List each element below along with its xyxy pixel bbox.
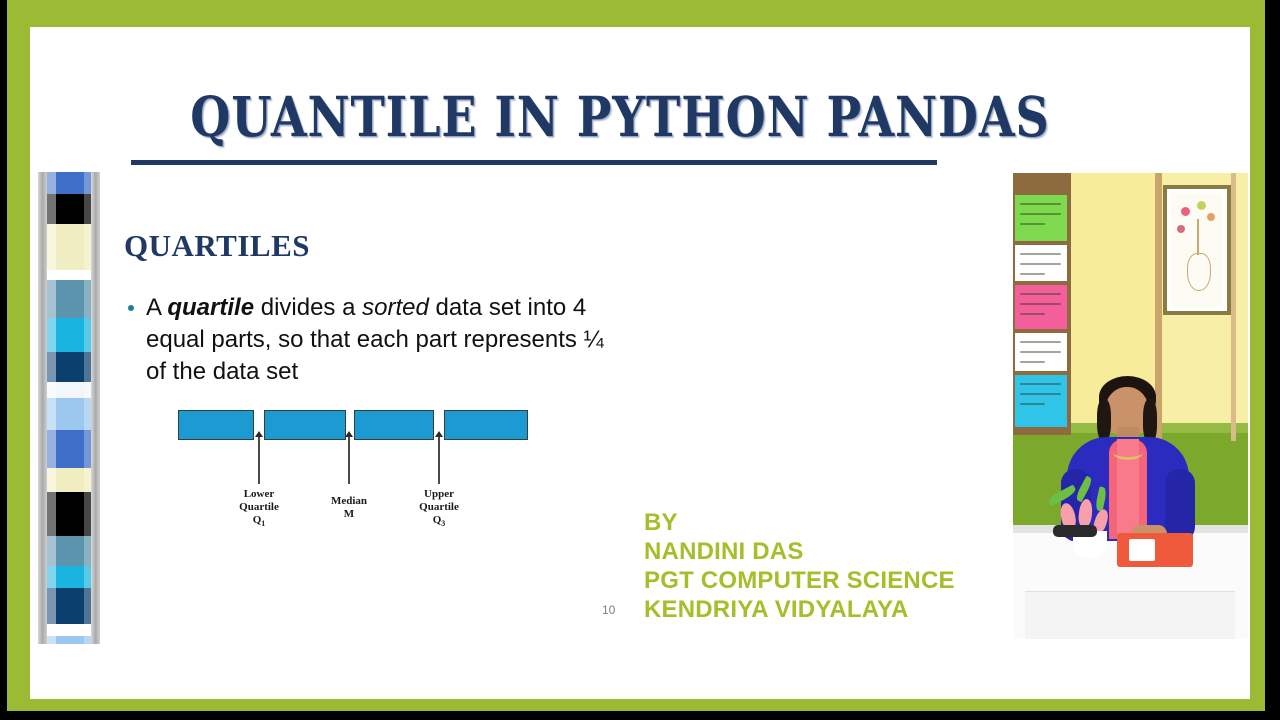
sticky-note-scribble	[1020, 351, 1061, 353]
sticky-note-scribble	[1020, 293, 1061, 295]
median-line1: Median	[331, 495, 367, 507]
sticky-note-scribble	[1020, 403, 1045, 405]
stripe-highlight-left	[47, 172, 56, 644]
author-credits: BY NANDINI DAS PGT COMPUTER SCIENCE KEND…	[644, 508, 955, 624]
author-line-designation: PGT COMPUTER SCIENCE	[644, 566, 955, 595]
quartile-segment-1	[178, 410, 254, 440]
sticky-note-scribble	[1020, 383, 1061, 385]
author-line-institution: KENDRIYA VIDYALAYA	[644, 595, 955, 624]
slide-root: QUANTILE IN PYTHON PANDAS QUARTILES A qu…	[0, 0, 1280, 720]
upper-quartile-pointer	[438, 436, 440, 484]
photo-sticky-note-5	[1015, 375, 1067, 427]
sticky-note-scribble	[1020, 263, 1061, 265]
bullet-text: A quartile divides a sorted data set int…	[146, 292, 608, 388]
quartile-segment-4	[444, 410, 528, 440]
photo-wall-frame-art	[1171, 193, 1223, 307]
sticky-note-scribble	[1020, 361, 1045, 363]
photo-marker-pen	[1053, 525, 1097, 537]
upper-quartile-line2: Quartile	[419, 501, 459, 513]
photo-sticky-note-3	[1015, 285, 1067, 329]
author-line-by: BY	[644, 508, 955, 537]
bullet-dot-icon	[128, 305, 134, 311]
photo-sticky-note-1	[1015, 195, 1067, 241]
quartile-bar-diagram: Lower Quartile Q1 Median M Upper Quartil…	[178, 410, 528, 540]
frame-flower-2	[1197, 201, 1206, 210]
photo-sticky-note-2	[1015, 245, 1067, 281]
sticky-note-scribble	[1020, 393, 1061, 395]
stripe-edge-left	[38, 172, 47, 644]
photo-person-necklace	[1113, 445, 1143, 460]
quartile-segment-3	[354, 410, 434, 440]
photo-person-hair-left	[1097, 399, 1111, 441]
frame-flower-3	[1207, 213, 1215, 221]
sticky-note-scribble	[1020, 341, 1061, 343]
photo-tablecloth	[1025, 591, 1235, 639]
sticky-note-scribble	[1020, 313, 1045, 315]
decorative-stripe-column	[38, 172, 100, 644]
upper-quartile-label: Upper Quartile Q3	[399, 488, 479, 530]
sticky-note-scribble	[1020, 253, 1061, 255]
sticky-note-scribble	[1020, 303, 1061, 305]
photo-wall-divider	[1155, 173, 1162, 441]
frame-flower-4	[1177, 225, 1185, 233]
frame-flower-1	[1181, 207, 1190, 216]
presenter-photo	[1013, 173, 1248, 639]
upper-quartile-symbol: Q	[433, 514, 442, 526]
photo-book-label	[1129, 539, 1155, 561]
quartile-segment-2	[264, 410, 346, 440]
photo-wall-divider-2	[1231, 173, 1236, 441]
sticky-note-scribble	[1020, 273, 1045, 275]
lower-quartile-pointer	[258, 436, 260, 484]
page-number: 10	[602, 603, 615, 617]
page-title-text: QUANTILE IN PYTHON PANDAS	[155, 86, 1085, 148]
stripe-edge-right	[91, 172, 100, 644]
lower-quartile-line1: Lower	[244, 488, 275, 500]
upper-quartile-line1: Upper	[424, 488, 454, 500]
sticky-note-scribble	[1020, 223, 1045, 225]
frame-stem	[1197, 219, 1199, 255]
median-line2: M	[344, 508, 354, 520]
bullet-list: A quartile divides a sorted data set int…	[128, 292, 608, 388]
frame-vase	[1187, 253, 1211, 291]
photo-sticky-note-4	[1015, 333, 1067, 371]
title-underline	[131, 160, 937, 165]
sticky-note-scribble	[1020, 213, 1061, 215]
section-heading: QUARTILES	[124, 228, 310, 264]
lower-quartile-label: Lower Quartile Q1	[219, 488, 299, 530]
median-pointer	[348, 436, 350, 484]
median-label: Median M	[309, 495, 389, 521]
author-line-name: NANDINI DAS	[644, 537, 955, 566]
lower-quartile-subscript: 1	[261, 519, 265, 528]
stripe-highlight-right	[84, 172, 91, 644]
photo-person-arm-right	[1165, 469, 1195, 541]
lower-quartile-symbol: Q	[253, 514, 262, 526]
page-title: QUANTILE IN PYTHON PANDAS	[120, 86, 1120, 148]
sticky-note-scribble	[1020, 203, 1061, 205]
upper-quartile-subscript: 3	[441, 519, 445, 528]
lower-quartile-line2: Quartile	[239, 501, 279, 513]
list-item: A quartile divides a sorted data set int…	[128, 292, 608, 388]
